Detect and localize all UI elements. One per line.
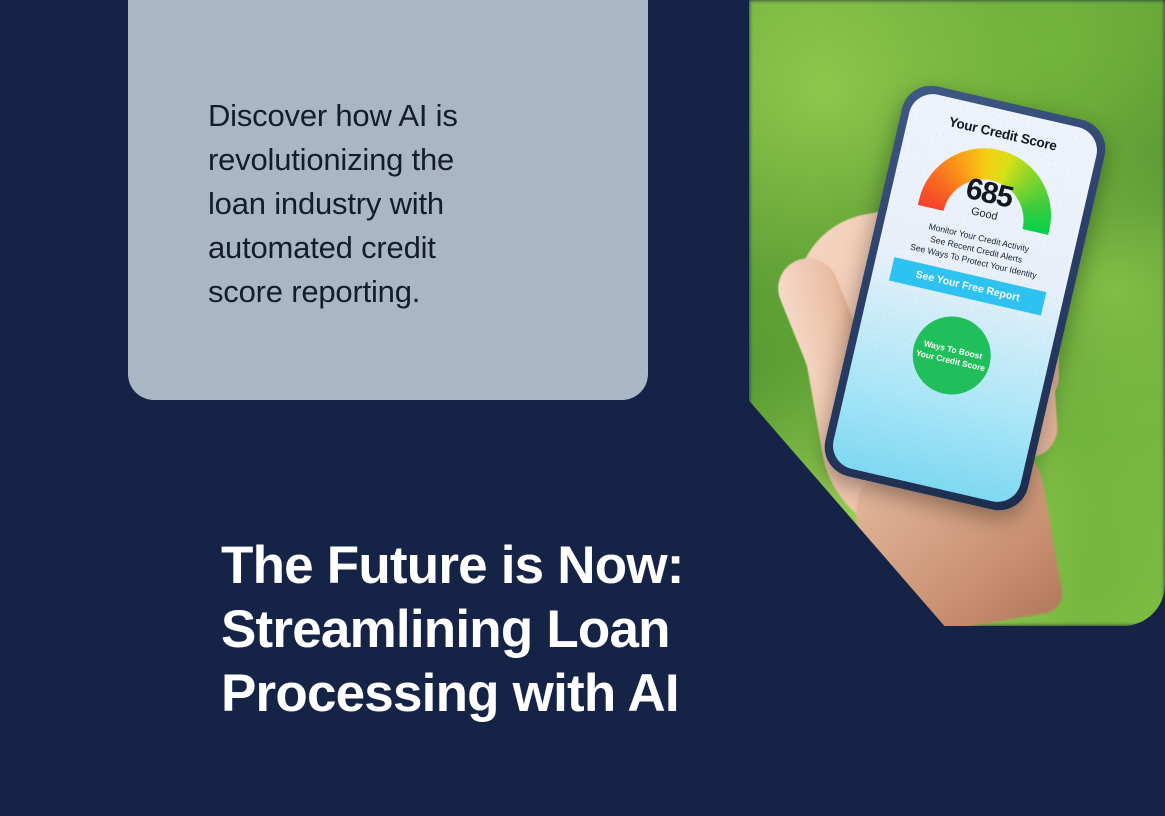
quote-text: Discover how AI is revolutionizing the l…	[208, 94, 508, 314]
slide-canvas: Discover how AI is revolutionizing the l…	[0, 0, 1165, 816]
quote-card: Discover how AI is revolutionizing the l…	[128, 0, 648, 400]
page-title: The Future is Now: Streamlining Loan Pro…	[221, 534, 691, 726]
hero-photo-panel: Your Credit Score 685 Good Monitor Your …	[749, 0, 1165, 626]
